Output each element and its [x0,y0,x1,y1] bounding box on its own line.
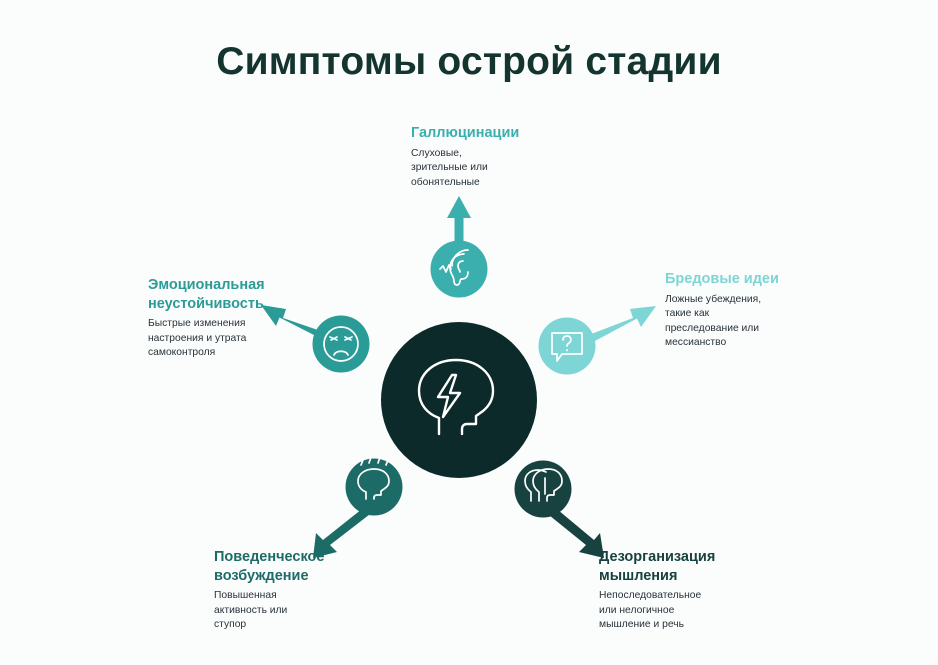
body-emotional-instability: Быстрые изменения настроения и утрата са… [148,317,308,361]
body-hallucinations: Слуховые, зрительные или обонятельные [411,147,591,191]
label-emotional-instability: Эмоциональная неустойчивость Быстрые изм… [148,276,308,361]
label-behavioral-agitation: Поведенческое возбуждение Повышенная акт… [214,548,394,633]
node-icon-hallucinations [431,241,488,298]
label-hallucinations: Галлюцинации Слуховые, зрительные или об… [411,124,591,190]
heading-behavioral-agitation: Поведенческое возбуждение [214,548,394,585]
node-icon-behavioral-agitation [346,456,403,516]
center-hub [381,322,537,478]
infographic-canvas: Симптомы острой стадии [0,0,938,665]
node-icon-emotional-instability [313,316,370,373]
heading-emotional-instability: Эмоциональная неустойчивость [148,276,308,313]
label-delusions: Бредовые идеи Ложные убеждения, такие ка… [665,270,840,351]
label-disorganized-thinking: Дезорганизация мышления Непоследовательн… [599,548,784,633]
body-delusions: Ложные убеждения, такие как преследовани… [665,293,840,351]
heading-disorganized-thinking: Дезорганизация мышления [599,548,784,585]
heading-hallucinations: Галлюцинации [411,124,591,143]
heading-delusions: Бредовые идеи [665,270,840,289]
body-behavioral-agitation: Повышенная активность или ступор [214,589,394,633]
body-disorganized-thinking: Непоследовательное или нелогичное мышлен… [599,589,784,633]
node-icon-disorganized-thinking [515,461,572,518]
node-icon-delusions [539,318,596,375]
